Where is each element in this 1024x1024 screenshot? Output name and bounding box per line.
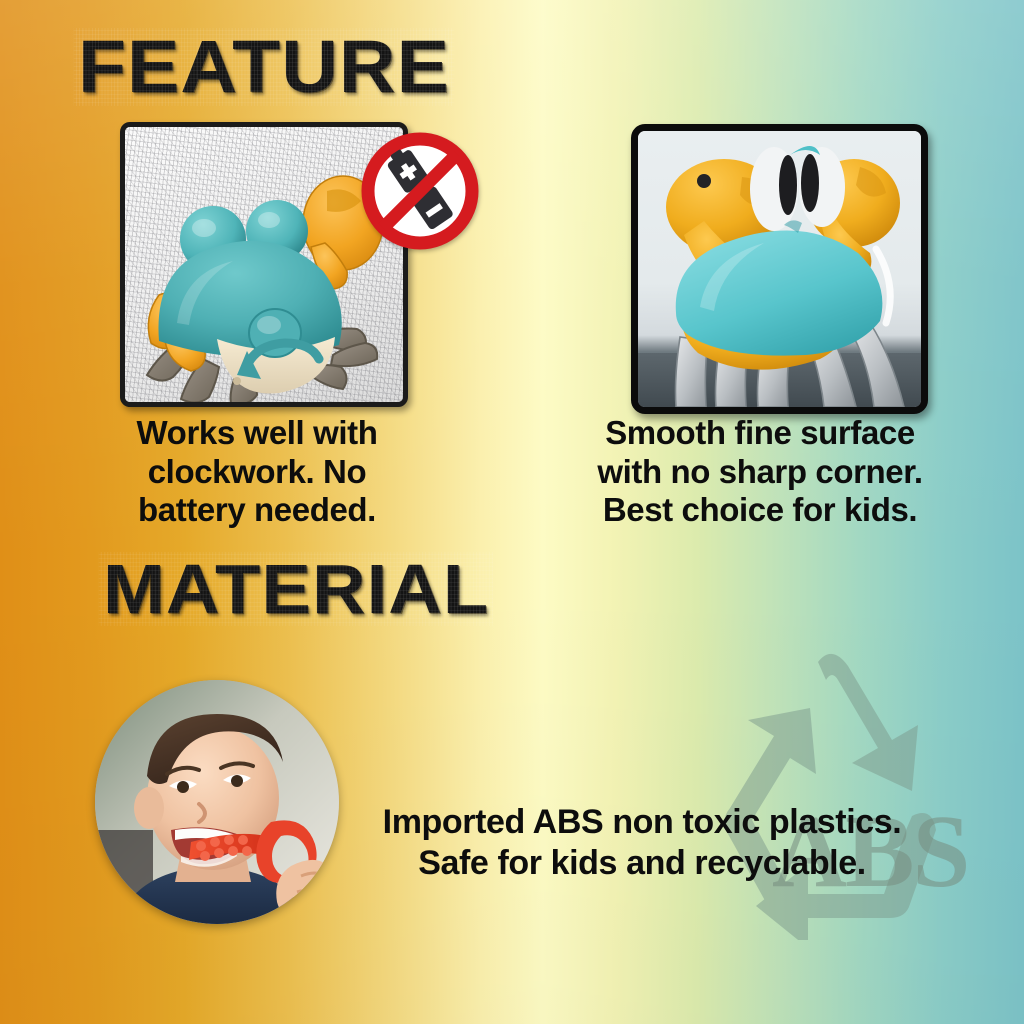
- crab-toy-closeup-illustration: [638, 131, 921, 407]
- caption-surface: Smooth fine surface with no sharp corner…: [570, 414, 950, 530]
- section-heading-feature: FEATURE: [78, 30, 450, 104]
- infographic-page: FEATURE: [0, 0, 1024, 1024]
- material-photo-child: [95, 680, 339, 924]
- caption-abs-material: Imported ABS non toxic plastics. Safe fo…: [352, 802, 932, 885]
- child-with-teether-illustration: [95, 680, 339, 924]
- caption-clockwork: Works well with clockwork. No battery ne…: [92, 414, 422, 530]
- section-heading-material: MATERIAL: [103, 554, 489, 624]
- no-battery-icon: [357, 128, 483, 254]
- feature-photo-surface: [631, 124, 928, 414]
